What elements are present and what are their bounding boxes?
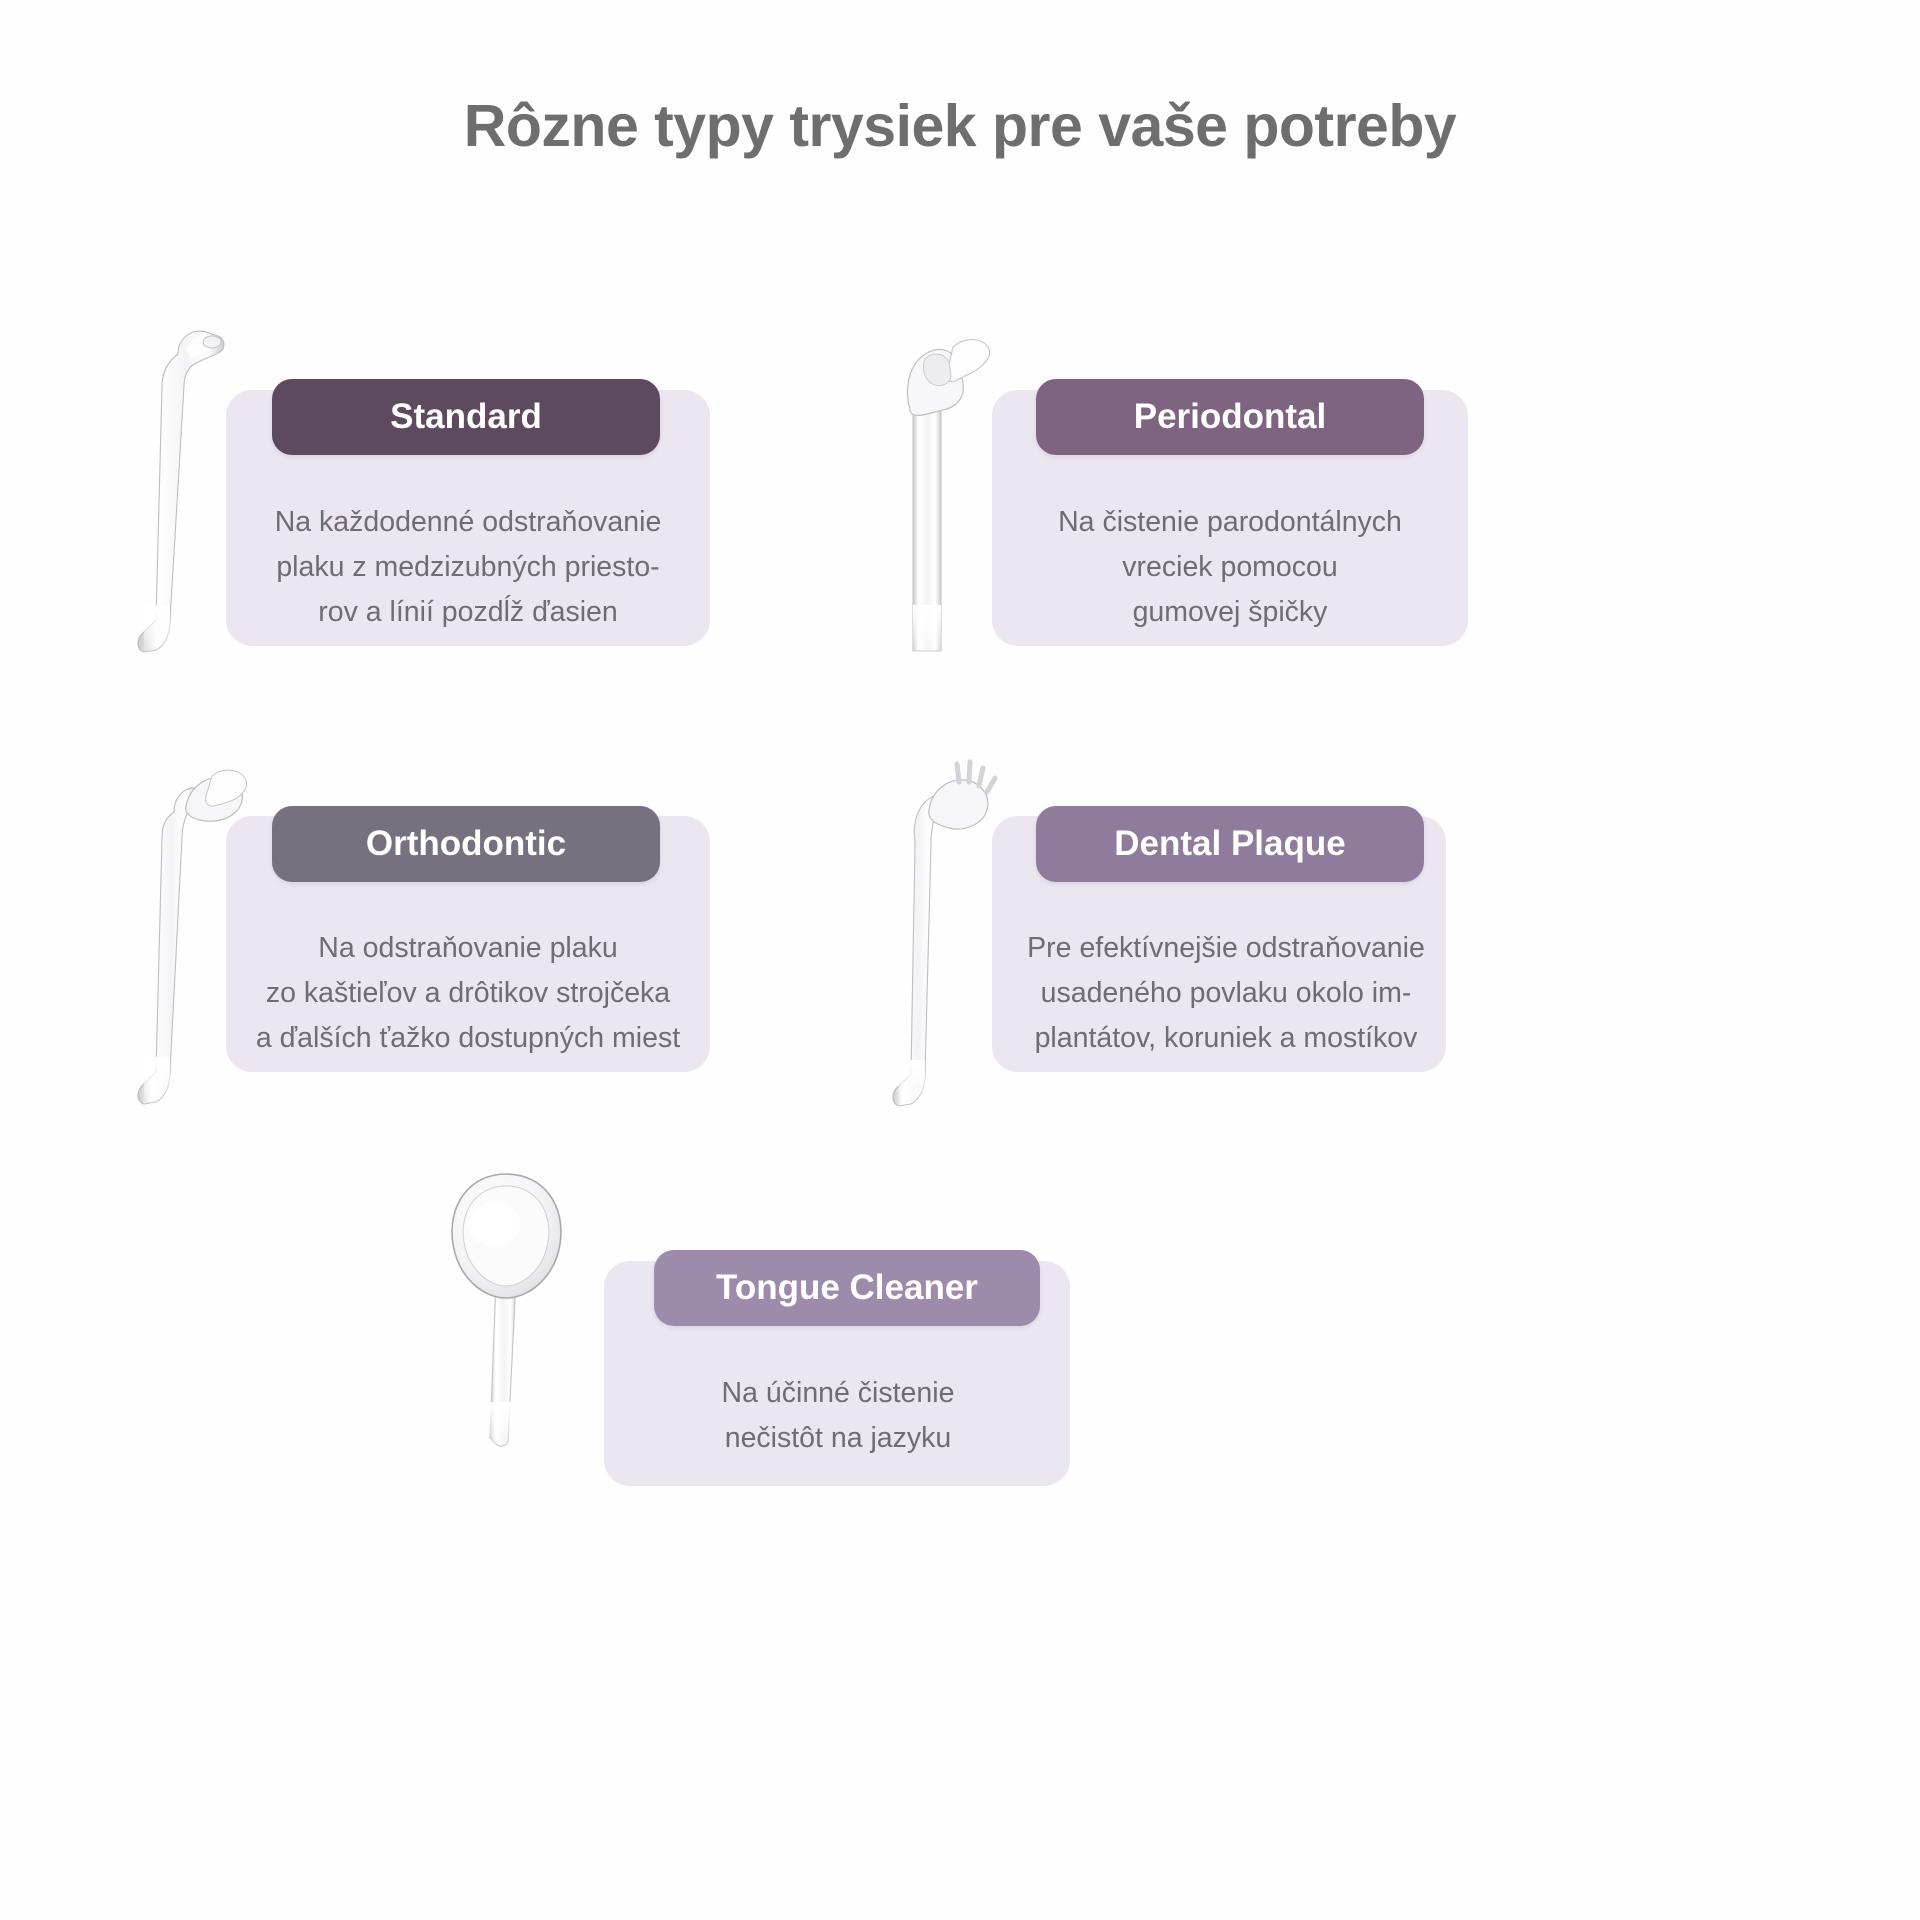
standard-card-title: Standard bbox=[390, 397, 542, 437]
orthodontic-card-title: Orthodontic bbox=[366, 824, 566, 864]
dental-plaque-card-title: Dental Plaque bbox=[1114, 824, 1345, 864]
dental-plaque-card-header[interactable]: Dental Plaque bbox=[1036, 806, 1424, 882]
periodontal-card-body: Na čistenie parodontálnych vreciek pomoc… bbox=[1012, 500, 1448, 635]
tongue-cleaner-nozzle-image bbox=[420, 1150, 620, 1450]
infographic-page: Rôzne typy trysiek pre vaše potreby bbox=[0, 0, 1920, 1920]
tongue-cleaner-card-body: Na účinné čistenie nečistôt na jazyku bbox=[620, 1371, 1056, 1461]
tongue-cleaner-card-header[interactable]: Tongue Cleaner bbox=[654, 1250, 1040, 1326]
standard-card-body: Na každodenné odstraňovanie plaku z medz… bbox=[246, 500, 690, 635]
orthodontic-card-body: Na odstraňovanie plaku zo kaštieľov a dr… bbox=[238, 926, 698, 1061]
periodontal-card-header[interactable]: Periodontal bbox=[1036, 379, 1424, 455]
page-title: Rôzne typy trysiek pre vaše potreby bbox=[0, 92, 1920, 160]
standard-card-header[interactable]: Standard bbox=[272, 379, 660, 455]
periodontal-card-title: Periodontal bbox=[1134, 397, 1327, 437]
tongue-cleaner-card-title: Tongue Cleaner bbox=[716, 1268, 978, 1308]
dental-plaque-card-body: Pre efektívnejšie odstraňovanie usadenéh… bbox=[1008, 926, 1444, 1061]
orthodontic-card-header[interactable]: Orthodontic bbox=[272, 806, 660, 882]
